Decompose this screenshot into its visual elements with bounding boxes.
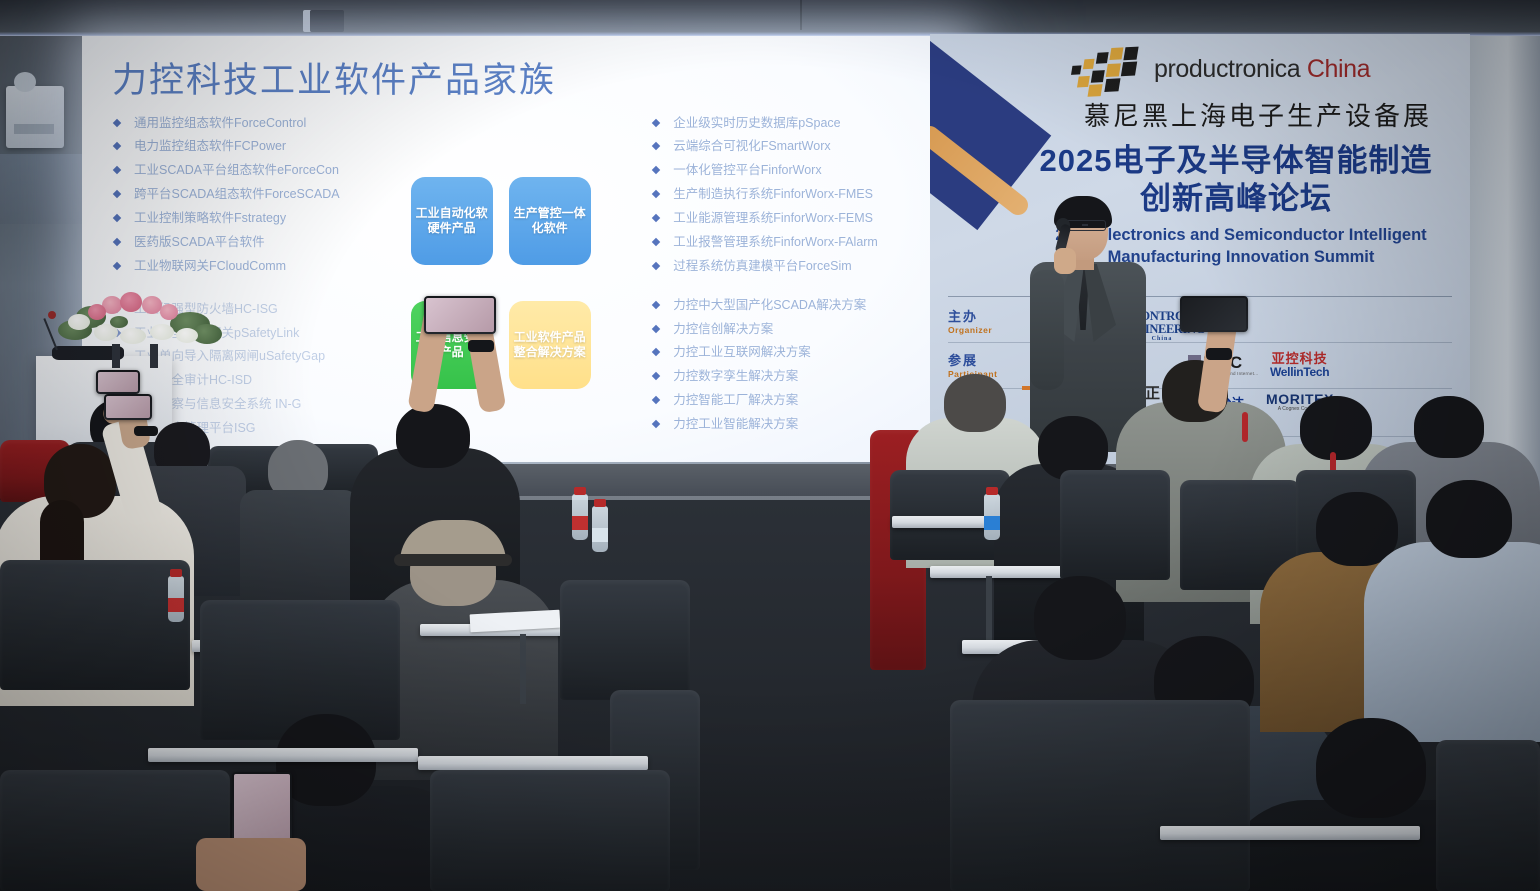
chair (560, 580, 690, 700)
desk-leg (986, 576, 992, 646)
list-item: 电力监控组态软件FCPower (112, 138, 403, 155)
chair (1060, 470, 1170, 580)
attendee-head (1426, 480, 1512, 558)
attendee-torso (1364, 542, 1540, 742)
desk (418, 756, 648, 770)
smartphone-icon (96, 370, 140, 394)
ceiling (0, 0, 1540, 36)
wall-device-slot (14, 124, 54, 134)
bottle-cap-icon (594, 499, 606, 507)
category-chip-automation: 工业自动化软硬件产品 (411, 177, 493, 265)
attendee-head (1316, 492, 1398, 566)
desk-leg (520, 634, 526, 704)
banner-chinese-subtitle: 慕尼黑上海电子生产设备展 (1058, 96, 1458, 133)
wall-control-box-icon (6, 86, 64, 148)
bottle-label (168, 598, 184, 612)
presenter-arm (1030, 270, 1064, 390)
list-item: 通用监控组态软件ForceControl (112, 115, 403, 132)
attendee-head (1316, 718, 1426, 818)
wristwatch-icon (468, 340, 494, 352)
attendee-head (1300, 396, 1372, 460)
sponsor-logo-wellintech: 亚控科技WellinTech (1270, 352, 1329, 378)
projection-screen: 力控科技工业软件产品家族 通用监控组态软件ForceControl 电力监控组态… (82, 36, 962, 466)
tablet-icon (1180, 296, 1248, 332)
slide-right-list-lower: 力控中大型国产化SCADA解决方案 力控信创解决方案 力控工业互联网解决方案 力… (651, 297, 938, 433)
conference-hall-scene: 力控科技工业软件产品家族 通用监控组态软件ForceControl 电力监控组态… (0, 0, 1540, 891)
podium-microphone-head-icon (48, 311, 56, 319)
list-item: 工业控制策略软件Fstrategy (112, 210, 403, 227)
chair (950, 700, 1250, 891)
slide-chip-row-top: 工业自动化软硬件产品 生产管控一体化软件 (411, 177, 644, 265)
presenter-hand (1054, 248, 1076, 274)
list-item: 力控智能工厂解决方案 (651, 392, 938, 409)
chair (430, 770, 670, 891)
list-item: 云端综合可视化FSmartWorx (651, 138, 938, 155)
water-bottle (984, 494, 1000, 540)
list-item: 力控工业互联网解决方案 (651, 344, 938, 361)
bottle-cap-icon (170, 569, 182, 577)
attendee-head (1414, 396, 1484, 458)
lanyard-icon (1242, 412, 1248, 442)
desk (148, 748, 418, 762)
cap-brim-icon (394, 554, 512, 566)
list-item: 工业SCADA平台组态软件eForceCon (112, 162, 403, 179)
chair (1436, 740, 1540, 891)
list-item: 医药版SCADA平台软件 (112, 234, 403, 251)
ceiling-seam (800, 0, 802, 30)
bottle-label (984, 516, 1000, 530)
slide-title: 力控科技工业软件产品家族 (112, 62, 938, 101)
smartphone-icon (424, 296, 496, 334)
list-item: 工业能源管理系统FinforWorx-FEMS (651, 210, 938, 227)
bottle-cap-icon (986, 487, 998, 495)
desk (1160, 826, 1420, 840)
slide-right-list: 企业级实时历史数据库pSpace 云端综合可视化FSmartWorx 一体化管控… (651, 115, 938, 275)
attendee-head (1034, 576, 1126, 660)
ceiling-speaker-icon (310, 10, 344, 32)
list-item: 工业报警管理系统FinforWorx-FAlarm (651, 234, 938, 251)
water-bottle (592, 506, 608, 552)
list-item: 力控信创解决方案 (651, 321, 938, 338)
attendee-head (944, 374, 1006, 432)
list-item: 力控中大型国产化SCADA解决方案 (651, 297, 938, 314)
water-bottle (572, 494, 588, 540)
list-item: 企业级实时历史数据库pSpace (651, 115, 938, 132)
desk (930, 566, 1062, 578)
list-item: 生产制造执行系统FinforWorx-FMES (651, 186, 938, 203)
chair (0, 560, 190, 690)
bottle-label (592, 528, 608, 542)
slide-left-list: 通用监控组态软件ForceControl 电力监控组态软件FCPower 工业S… (112, 115, 403, 275)
bottle-cap-icon (574, 487, 586, 495)
banner-headline-line1: 2025电子及半导体智能制造 (1026, 142, 1446, 180)
list-item: 过程系统仿真建模平台ForceSim (651, 258, 938, 275)
attendee-head (396, 404, 470, 468)
smartphone-icon (104, 394, 152, 420)
list-item: 一体化管控平台FinforWorx (651, 162, 938, 179)
productronica-logo: productronica China (1072, 48, 1370, 90)
list-item: 跨平台SCADA组态软件ForceSCADA (112, 186, 403, 203)
attendee-hand (196, 838, 306, 891)
bottle-label (572, 516, 588, 530)
flower-arrangement (58, 290, 218, 360)
productronica-mark-icon (1068, 46, 1147, 92)
category-chip-solutions: 工业软件产品整合解决方案 (509, 301, 591, 389)
wristwatch-icon (134, 426, 158, 436)
category-chip-production: 生产管控一体化软件 (509, 177, 591, 265)
water-bottle (168, 576, 184, 622)
banner-label-organizer: 主办 Organizer (948, 306, 992, 335)
list-item: 工业物联网关FCloudComm (112, 258, 403, 275)
productronica-wordmark: productronica China (1154, 55, 1370, 84)
list-item: 力控数字孪生解决方案 (651, 368, 938, 385)
wristwatch-icon (1206, 348, 1232, 360)
